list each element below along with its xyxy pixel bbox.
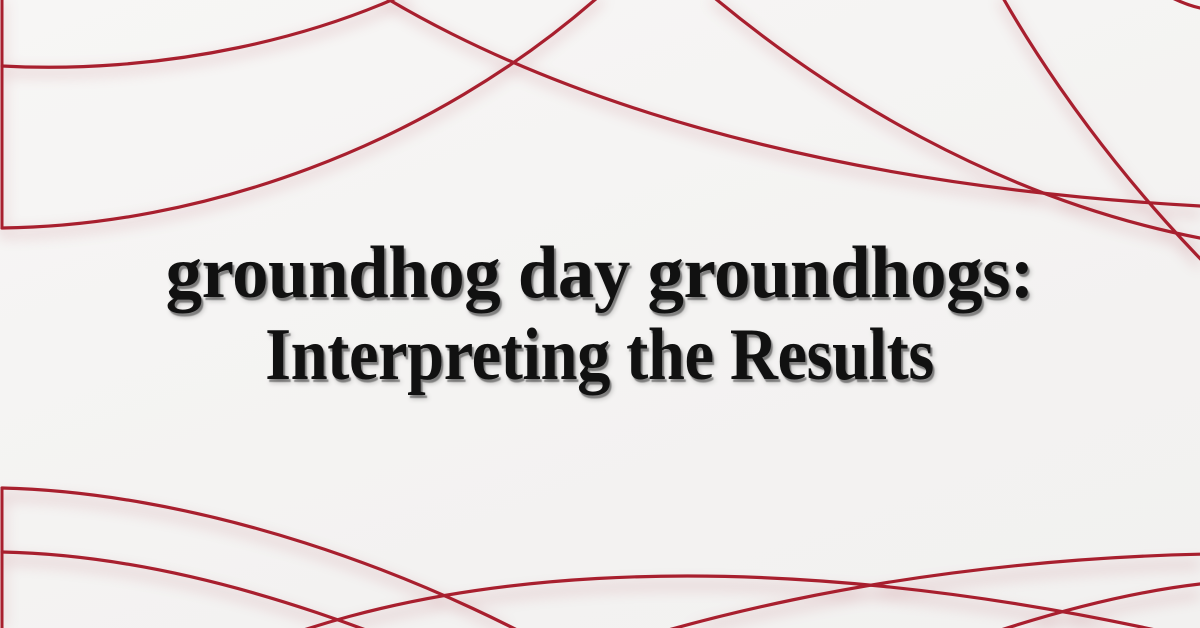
- page-title-line-2: Interpreting the Results: [266, 314, 935, 396]
- page-title-line-1: groundhog day groundhogs:: [166, 232, 1034, 314]
- title-block: groundhog day groundhogs: Interpreting t…: [0, 0, 1200, 628]
- social-card: groundhog day groundhogs: Interpreting t…: [0, 0, 1200, 628]
